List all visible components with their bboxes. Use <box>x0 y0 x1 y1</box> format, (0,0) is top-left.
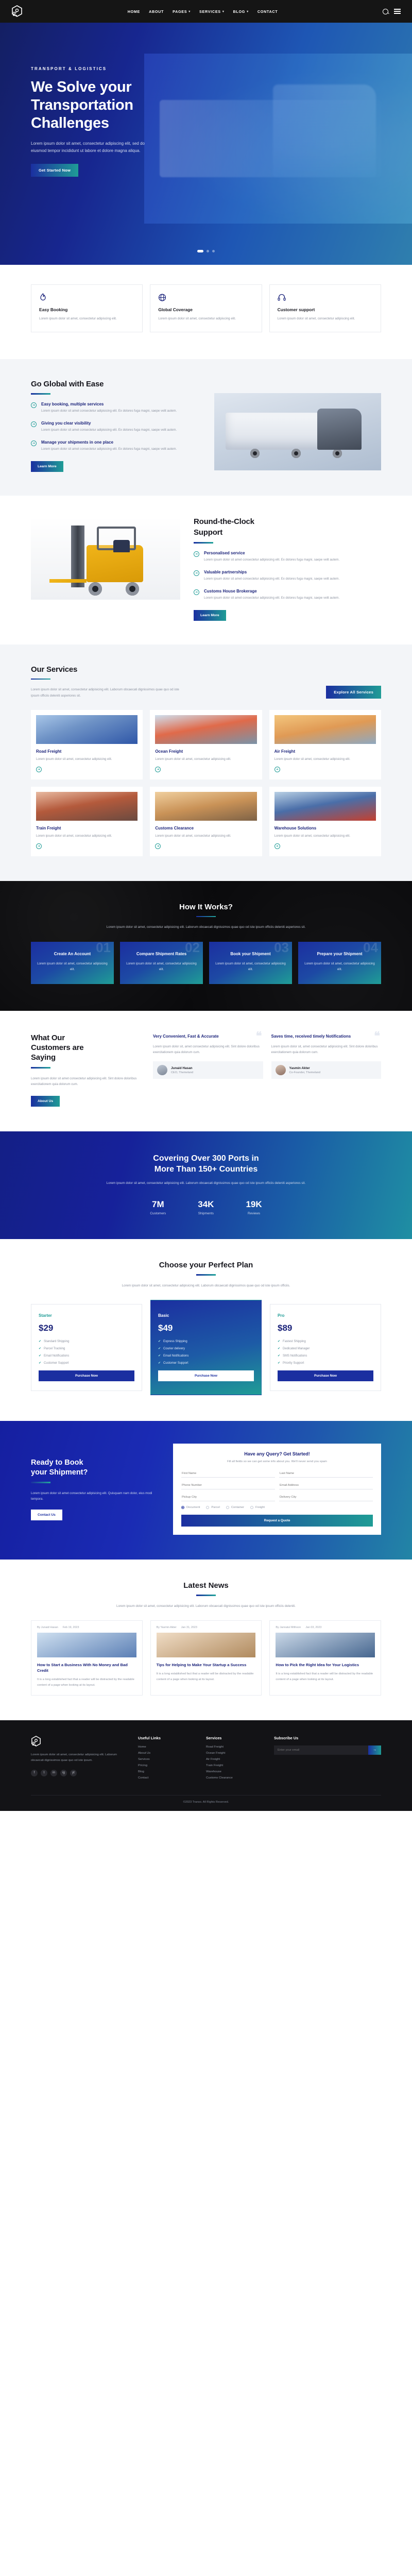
title-rule <box>196 1595 216 1596</box>
subscribe-email-input[interactable] <box>274 1745 368 1755</box>
hamburger-icon[interactable] <box>394 9 401 13</box>
bullet-item: ➔ Customs House Brokerage Lorem ipsum do… <box>194 589 381 601</box>
plan-feature: ✔Customer Support <box>39 1361 134 1365</box>
search-icon[interactable] <box>383 9 388 14</box>
plan-features: ✔Express Shipping ✔Courier delivery ✔Ema… <box>158 1340 254 1365</box>
footer-link[interactable]: Home <box>138 1745 196 1749</box>
pricing-desc: Lorem ipsum dolor sit amet, consectetur … <box>103 1283 309 1289</box>
pricing-plan-pro[interactable]: Pro $89 ✔Fastest Shipping ✔Dedicated Man… <box>270 1304 381 1391</box>
plan-feature: ✔Courier delivery <box>158 1347 254 1350</box>
service-card-customs-clearance[interactable]: Customs Clearance Lorem ipsum dolor sit … <box>150 787 262 856</box>
check-icon: ✔ <box>158 1354 161 1358</box>
news-card-3[interactable]: By Jannatul Mithoon Jan 03, 2023 How to … <box>269 1620 381 1696</box>
step-title: Book your Shipment <box>215 951 286 957</box>
first-name-input[interactable] <box>181 1470 275 1478</box>
hero-carousel-dots <box>0 250 412 252</box>
radio-dot <box>250 1506 253 1509</box>
go-global-text: Go Global with Ease ➔ Easy booking, mult… <box>31 380 201 471</box>
plan-feature: ✔Priority Support <box>278 1361 373 1365</box>
nav-item-contact[interactable]: CONTACT <box>257 9 278 14</box>
radio-parcel[interactable]: Parcel <box>206 1506 219 1509</box>
hero-section: TRANSPORT & LOGISTICS We Solve your Tran… <box>0 23 412 265</box>
forklift-wheel <box>126 582 139 596</box>
feature-card-global-coverage[interactable]: Global Coverage Lorem ipsum dolor sit am… <box>150 284 262 332</box>
quote-form-subtitle: Fill all fields so we can get some info … <box>181 1459 373 1464</box>
destination-input[interactable] <box>279 1494 373 1501</box>
section-title: What Our <box>31 1033 142 1043</box>
how-step-4[interactable]: 04 Prepare your Shipment Lorem ipsum dol… <box>298 942 381 984</box>
plan-price: $29 <box>39 1323 134 1333</box>
stats-section: Covering Over 300 Ports in More Than 150… <box>0 1131 412 1239</box>
stats-desc: Lorem ipsum dolor sit amet, consectetur … <box>93 1180 319 1186</box>
service-card-warehouse-solutions[interactable]: Warehouse Solutions Lorem ipsum dolor si… <box>269 787 381 856</box>
testimonials-desc: Lorem ipsum dolor sit amet consectetur a… <box>31 1076 142 1088</box>
hero-eyebrow: TRANSPORT & LOGISTICS <box>31 66 206 71</box>
testimonial-card-2: ❝ Saves time, received timely Notificati… <box>271 1033 382 1079</box>
stats-title: Covering Over 300 Ports in More Than 150… <box>31 1153 381 1175</box>
service-desc: Lorem ipsum dolor sit amet, consectetur … <box>155 834 256 839</box>
arrow-circle-icon: ➔ <box>31 421 37 427</box>
check-icon: ✔ <box>39 1354 41 1358</box>
section-title-line2: Customers are <box>31 1043 142 1053</box>
title-rule <box>31 1482 50 1483</box>
go-global-truck-image <box>214 393 381 470</box>
bullet-title: Giving you clear visibility <box>41 421 177 426</box>
carousel-dot[interactable] <box>197 250 203 252</box>
bullet-title: Customs House Brokerage <box>204 589 339 594</box>
latest-news-section: Latest News Lorem ipsum dolor sit amet, … <box>0 1560 412 1720</box>
title-rule <box>31 1067 50 1069</box>
round-the-clock-text: Round-the-Clock Support ➔ Personalised s… <box>194 517 381 621</box>
arrow-circle-icon[interactable]: ➔ <box>274 767 280 772</box>
radio-document[interactable]: Document <box>181 1506 200 1509</box>
services-desc: Lorem ipsum dolor sit amet, consectetur … <box>31 687 185 699</box>
service-title: Ocean Freight <box>155 749 256 754</box>
footer-link[interactable]: Warehouse <box>206 1770 264 1773</box>
plan-features: ✔Standard Shipping ✔Parcel Tracking ✔Ema… <box>39 1340 134 1365</box>
flame-icon <box>39 293 134 302</box>
hero-cta-button[interactable]: Get Started Now <box>31 164 78 177</box>
footer-link[interactable]: About Us <box>138 1752 196 1755</box>
carousel-dot[interactable] <box>207 250 209 252</box>
footer-link[interactable]: Contact <box>138 1776 196 1780</box>
facebook-icon[interactable]: f <box>31 1770 38 1776</box>
service-desc: Lorem ipsum dolor sit amet, consectetur … <box>155 757 256 762</box>
footer-link[interactable]: Ocean Freight <box>206 1752 264 1755</box>
youtube-icon[interactable]: yt <box>70 1770 77 1776</box>
news-title: Latest News <box>31 1581 381 1590</box>
hero-content: TRANSPORT & LOGISTICS We Solve your Tran… <box>0 23 206 177</box>
cargo-logo-icon[interactable] <box>11 5 23 18</box>
news-headline: How to Pick the Right Idea for Your Logi… <box>276 1662 375 1668</box>
news-thumbnail <box>276 1633 375 1657</box>
request-quote-button[interactable]: Request a Quote <box>181 1515 373 1527</box>
about-us-button[interactable]: About Us <box>31 1096 60 1107</box>
check-icon: ✔ <box>278 1347 280 1350</box>
book-left-text: Ready to Book your Shipment? Lorem ipsum… <box>31 1458 160 1521</box>
nav-item-services[interactable]: SERVICES▾ <box>199 9 225 14</box>
news-date: Feb 19, 2023 <box>63 1626 79 1629</box>
footer-link[interactable]: Blog <box>138 1770 196 1773</box>
quote-form-title: Have any Query? Get Started! <box>181 1451 373 1456</box>
truck-wheel <box>333 449 342 458</box>
service-title: Warehouse Solutions <box>274 826 376 831</box>
round-the-clock-section: Round-the-Clock Support ➔ Personalised s… <box>0 496 412 645</box>
step-desc: Lorem ipsum dolor sit amet, consectetur … <box>126 961 197 973</box>
clock-cta-button[interactable]: Learn More <box>194 610 226 621</box>
service-card-road-freight[interactable]: Road Freight Lorem ipsum dolor sit amet,… <box>31 710 143 779</box>
copyright-text: ©2023 Transo. All Rights Reserved. <box>183 1801 229 1804</box>
bullet-item: ➔ Giving you clear visibility Lorem ipsu… <box>31 421 201 433</box>
check-icon: ✔ <box>158 1361 161 1365</box>
bullet-title: Easy booking, multiple services <box>41 402 177 406</box>
explore-all-services-button[interactable]: Explore All Services <box>326 686 381 699</box>
plan-feature: ✔Fastest Shipping <box>278 1340 373 1343</box>
stat-customers: 7M Customers <box>150 1199 166 1215</box>
main-nav: HOME ABOUT PAGES▾ SERVICES▾ BLOG▾ CONTAC… <box>23 9 383 14</box>
bullet-title: Manage your shipments in one place <box>41 440 177 445</box>
footer-subscribe: Subscribe Us → <box>274 1736 381 1783</box>
arrow-circle-icon: ➔ <box>31 440 37 446</box>
how-step-3[interactable]: 03 Book your Shipment Lorem ipsum dolor … <box>209 942 292 984</box>
bullet-title: Personalised service <box>204 551 339 555</box>
nav-label: CONTACT <box>257 9 278 14</box>
author-role: Co-Founder, Themeland <box>289 1071 321 1074</box>
arrow-circle-icon: ➔ <box>31 402 37 408</box>
train-photo <box>36 792 138 821</box>
testimonial-text: Lorem ipsum dolor sit, amet consectetur … <box>271 1044 382 1056</box>
service-card-train-freight[interactable]: Train Freight Lorem ipsum dolor sit amet… <box>31 787 143 856</box>
pricing-plan-starter[interactable]: Starter $29 ✔Standard Shipping ✔Parcel T… <box>31 1304 142 1391</box>
stat-value: 34K <box>198 1199 214 1210</box>
arrow-circle-icon[interactable]: ➔ <box>274 843 280 849</box>
news-author: By Junaid Hasan <box>37 1626 58 1629</box>
title-rule <box>196 916 216 918</box>
testimonial-card-1: ❝ Very Convenient, Fast & Accurate Lorem… <box>153 1033 263 1079</box>
how-step-2[interactable]: 02 Compare Shipment Rates Lorem ipsum do… <box>120 942 203 984</box>
forklift-fork <box>49 579 87 583</box>
radio-freight[interactable]: Freight <box>250 1506 265 1509</box>
service-card-air-freight[interactable]: Air Freight Lorem ipsum dolor sit amet, … <box>269 710 381 779</box>
section-title: Our Services <box>31 665 185 674</box>
news-date: Jan 31, 2023 <box>181 1626 197 1629</box>
how-step-1[interactable]: 01 Create An Account Lorem ipsum dolor s… <box>31 942 114 984</box>
step-title: Create An Account <box>37 951 108 957</box>
phone-input[interactable] <box>181 1482 275 1489</box>
purchase-button[interactable]: Purchase Now <box>278 1370 373 1381</box>
subscribe-button[interactable]: → <box>368 1745 381 1755</box>
last-name-input[interactable] <box>279 1470 373 1478</box>
plan-feature: ✔Express Shipping <box>158 1340 254 1343</box>
news-author: By Jannatul Mithoon <box>276 1626 301 1629</box>
bullet-item: ➔ Personalised service Lorem ipsum dolor… <box>194 551 381 563</box>
nav-label: HOME <box>128 9 140 14</box>
service-desc: Lorem ipsum dolor sit amet, consectetur … <box>36 834 138 839</box>
feature-desc: Lorem ipsum dolor sit amet, consectetur … <box>278 316 373 321</box>
arrow-circle-icon: ➔ <box>194 589 199 595</box>
bullet-item: ➔ Valuable partnerships Lorem ipsum dolo… <box>194 570 381 582</box>
service-desc: Lorem ipsum dolor sit amet, consectetur … <box>274 757 376 762</box>
ship-photo <box>155 715 256 744</box>
bullet-desc: Lorem ipsum dolor sit amet consectetur a… <box>204 577 339 582</box>
bullet-item: ➔ Easy booking, multiple services Lorem … <box>31 402 201 414</box>
book-title-line: your Shipment? <box>31 1468 160 1478</box>
footer-link[interactable]: Air Freight <box>206 1758 264 1761</box>
footer-column-title: Services <box>206 1736 264 1740</box>
service-title: Air Freight <box>274 749 376 754</box>
footer-desc: Lorem ipsum dolor sit amet, consectetur … <box>31 1752 128 1764</box>
radio-dot <box>206 1506 209 1509</box>
news-author: By Yasmin Akter <box>157 1626 177 1629</box>
bullet-desc: Lorem ipsum dolor sit amet consectetur a… <box>41 447 177 452</box>
footer-link[interactable]: Pricing <box>138 1764 196 1767</box>
hero-title-line: Challenges <box>31 114 206 132</box>
news-excerpt: It is a long established fact that a rea… <box>37 1677 136 1688</box>
plan-price: $89 <box>278 1323 373 1333</box>
radio-dot <box>181 1506 184 1509</box>
bullet-title: Valuable partnerships <box>204 570 339 574</box>
footer-column-title: Useful Links <box>138 1736 196 1740</box>
step-desc: Lorem ipsum dolor sit amet, consectetur … <box>304 961 375 973</box>
feature-desc: Lorem ipsum dolor sit amet, consectetur … <box>158 316 253 321</box>
check-icon: ✔ <box>158 1347 161 1350</box>
service-card-ocean-freight[interactable]: Ocean Freight Lorem ipsum dolor sit amet… <box>150 710 262 779</box>
warehouse-photo <box>274 792 376 821</box>
book-desc: Lorem ipsum dolor sit amet consectetur a… <box>31 1490 160 1502</box>
service-desc: Lorem ipsum dolor sit amet, consectetur … <box>36 757 138 762</box>
news-date: Jan 03, 2023 <box>305 1626 321 1629</box>
arrow-circle-icon: ➔ <box>194 570 199 576</box>
author-name: Junaid Hasan <box>171 1066 193 1070</box>
check-icon: ✔ <box>39 1340 41 1343</box>
twitter-icon[interactable]: t <box>41 1770 47 1776</box>
arrow-circle-icon: ➔ <box>194 551 199 557</box>
stats-title-line: Covering Over 300 Ports in <box>31 1153 381 1164</box>
arrow-circle-icon[interactable]: ➔ <box>155 843 161 849</box>
site-header: HOME ABOUT PAGES▾ SERVICES▾ BLOG▾ CONTAC… <box>0 0 412 23</box>
how-desc: Lorem ipsum dolor sit amet, consectetur … <box>98 924 314 930</box>
nav-label: SERVICES <box>199 9 221 14</box>
news-thumbnail <box>37 1633 136 1657</box>
check-icon: ✔ <box>278 1361 280 1365</box>
plan-name: Pro <box>278 1313 373 1318</box>
book-title: Ready to Book your Shipment? <box>31 1458 160 1478</box>
globe-icon <box>158 293 253 302</box>
section-title: Round-the-Clock <box>194 517 381 527</box>
nav-item-pages[interactable]: PAGES▾ <box>173 9 191 14</box>
testimonial-author: Yasmin Akter Co-Founder, Themeland <box>271 1061 382 1079</box>
services-section: Our Services Lorem ipsum dolor sit amet,… <box>0 645 412 881</box>
arrow-circle-icon[interactable]: ➔ <box>36 767 42 772</box>
contact-us-button[interactable]: Contact Us <box>31 1510 62 1520</box>
check-icon: ✔ <box>278 1354 280 1358</box>
chevron-down-icon: ▾ <box>247 10 249 13</box>
avatar <box>276 1065 286 1075</box>
stats-title-line: More Than 150+ Countries <box>31 1164 381 1175</box>
news-thumbnail <box>157 1633 256 1657</box>
truck-wheel <box>250 449 260 458</box>
author-name: Yasmin Akter <box>289 1066 321 1070</box>
feature-card-easy-booking[interactable]: Easy Booking Lorem ipsum dolor sit amet,… <box>31 284 143 332</box>
nav-item-about[interactable]: ABOUT <box>149 9 164 14</box>
section-title: Go Global with Ease <box>31 380 201 388</box>
step-title: Compare Shipment Rates <box>126 951 197 957</box>
go-global-cta-button[interactable]: Learn More <box>31 461 63 472</box>
footer-column-services: Services Road Freight Ocean Freight Air … <box>206 1736 264 1783</box>
title-rule <box>196 1274 216 1276</box>
site-footer: Lorem ipsum dolor sit amet, consectetur … <box>0 1720 412 1811</box>
title-rule <box>31 393 50 395</box>
footer-bottom: ©2023 Transo. All Rights Reserved. <box>31 1795 381 1811</box>
testimonials-section: What Our Customers are Saying Lorem ipsu… <box>0 1011 412 1131</box>
social-links: f t in ig yt <box>31 1770 128 1776</box>
feature-desc: Lorem ipsum dolor sit amet, consectetur … <box>39 316 134 321</box>
avatar <box>157 1065 167 1075</box>
carousel-dot[interactable] <box>212 250 215 252</box>
purchase-button[interactable]: Purchase Now <box>158 1370 254 1381</box>
step-desc: Lorem ipsum dolor sit amet, consectetur … <box>37 961 108 973</box>
plan-feature: ✔Customer Support <box>158 1361 254 1365</box>
origin-input[interactable] <box>181 1494 275 1501</box>
testimonial-title: Very Convenient, Fast & Accurate <box>153 1033 263 1040</box>
stat-shipments: 34K Shipments <box>198 1199 214 1215</box>
instagram-icon[interactable]: ig <box>60 1770 67 1776</box>
title-rule <box>194 542 213 544</box>
service-title: Customs Clearance <box>155 826 256 831</box>
truck-wheel <box>291 449 301 458</box>
header-actions <box>383 9 401 14</box>
truck-photo <box>36 715 138 744</box>
hero-title-line: We Solve your <box>31 78 206 96</box>
stat-value: 19K <box>246 1199 262 1210</box>
arrow-circle-icon[interactable]: ➔ <box>36 843 42 849</box>
forklift-image <box>31 517 180 600</box>
forklift-wheel <box>89 582 102 596</box>
nav-item-blog[interactable]: BLOG▾ <box>233 9 249 14</box>
footer-link[interactable]: Road Freight <box>206 1745 264 1749</box>
plan-feature: ✔Standard Shipping <box>39 1340 134 1343</box>
how-it-works-section: How It Works? Lorem ipsum dolor sit amet… <box>0 881 412 1011</box>
title-rule <box>31 679 50 680</box>
email-input[interactable] <box>279 1482 373 1489</box>
bullet-desc: Lorem ipsum dolor sit amet consectetur a… <box>41 428 177 433</box>
stat-reviews: 19K Reviews <box>246 1199 262 1215</box>
nav-item-home[interactable]: HOME <box>128 9 140 14</box>
services-heading: Our Services Lorem ipsum dolor sit amet,… <box>31 665 185 699</box>
news-headline: How to Start a Business With No Money an… <box>37 1662 136 1673</box>
bullet-desc: Lorem ipsum dolor sit amet consectetur a… <box>204 596 339 601</box>
arrow-circle-icon[interactable]: ➔ <box>155 767 161 772</box>
stat-value: 7M <box>150 1199 166 1210</box>
bullet-desc: Lorem ipsum dolor sit amet consectetur a… <box>41 409 177 414</box>
pricing-plan-basic[interactable]: Basic $49 ✔Express Shipping ✔Courier del… <box>150 1300 262 1395</box>
plane-photo <box>274 715 376 744</box>
book-title-line: Ready to Book <box>31 1458 160 1468</box>
plan-name: Starter <box>39 1313 134 1318</box>
plan-price: $49 <box>158 1323 254 1333</box>
pricing-section: Choose your Perfect Plan Lorem ipsum dol… <box>0 1239 412 1421</box>
forklift-mast <box>71 526 84 587</box>
features-section: Easy Booking Lorem ipsum dolor sit amet,… <box>0 265 412 359</box>
step-desc: Lorem ipsum dolor sit amet, consectetur … <box>215 961 286 973</box>
hero-description: Lorem ipsum dolor sit amet, consectetur … <box>31 140 157 155</box>
bullet-desc: Lorem ipsum dolor sit amet consectetur a… <box>204 557 339 563</box>
plan-feature: ✔Parcel Tracking <box>39 1347 134 1350</box>
nav-label: PAGES <box>173 9 187 14</box>
pricing-title: Choose your Perfect Plan <box>31 1261 381 1269</box>
testimonial-title: Saves time, received timely Notification… <box>271 1033 382 1040</box>
testimonial-text: Lorem ipsum dolor sit, amet consectetur … <box>153 1044 263 1056</box>
footer-link[interactable]: Train Freight <box>206 1764 264 1767</box>
stat-label: Reviews <box>246 1212 262 1215</box>
hero-title: We Solve your Transportation Challenges <box>31 78 206 132</box>
chevron-down-icon: ▾ <box>222 10 225 13</box>
nav-label: ABOUT <box>149 9 164 14</box>
news-card-2[interactable]: By Yasmin Akter Jan 31, 2023 Tips for He… <box>150 1620 262 1696</box>
quote-form: Have any Query? Get Started! Fill all fi… <box>173 1444 381 1535</box>
service-title: Road Freight <box>36 749 138 754</box>
feature-card-customer-support[interactable]: Customer support Lorem ipsum dolor sit a… <box>269 284 381 332</box>
headset-icon <box>278 293 373 302</box>
footer-column-useful-links: Useful Links Home About Us Services Pric… <box>138 1736 196 1783</box>
go-global-section: Go Global with Ease ➔ Easy booking, mult… <box>0 359 412 495</box>
subscribe-title: Subscribe Us <box>274 1736 381 1740</box>
radio-dot <box>226 1506 229 1509</box>
linkedin-icon[interactable]: in <box>50 1770 57 1776</box>
plan-feature: ✔Email Notifications <box>39 1354 134 1358</box>
news-desc: Lorem ipsum dolor sit amet, consectetur … <box>98 1603 314 1609</box>
news-card-1[interactable]: By Junaid Hasan Feb 19, 2023 How to Star… <box>31 1620 143 1696</box>
bullet-item: ➔ Manage your shipments in one place Lor… <box>31 440 201 452</box>
testimonial-author: Junaid Hasan CEO, Themeland <box>153 1061 263 1079</box>
section-title-line3: Saying <box>31 1053 142 1063</box>
check-icon: ✔ <box>158 1340 161 1343</box>
feature-title: Customer support <box>278 307 373 312</box>
feature-title: Easy Booking <box>39 307 134 312</box>
stat-label: Customers <box>150 1212 166 1215</box>
plan-features: ✔Fastest Shipping ✔Dedicated Manager ✔SM… <box>278 1340 373 1365</box>
how-title: How It Works? <box>31 903 381 911</box>
forklift-seat <box>113 540 130 552</box>
purchase-button[interactable]: Purchase Now <box>39 1370 134 1381</box>
service-title: Train Freight <box>36 826 138 831</box>
chevron-down-icon: ▾ <box>188 10 191 13</box>
plan-name: Basic <box>158 1313 254 1318</box>
footer-logo[interactable] <box>31 1736 128 1747</box>
footer-link[interactable]: Services <box>138 1758 196 1761</box>
service-desc: Lorem ipsum dolor sit amet, consectetur … <box>274 834 376 839</box>
plan-feature: ✔Email Notifications <box>158 1354 254 1358</box>
footer-brand: Lorem ipsum dolor sit amet, consectetur … <box>31 1736 128 1783</box>
hero-title-line: Transportation <box>31 96 206 114</box>
footer-link[interactable]: Customs Clearance <box>206 1776 264 1780</box>
news-excerpt: It is a long established fact that a rea… <box>157 1671 256 1682</box>
plan-feature: ✔SMS Notifications <box>278 1354 373 1358</box>
nav-label: BLOG <box>233 9 246 14</box>
section-title-line2: Support <box>194 528 381 537</box>
check-icon: ✔ <box>39 1347 41 1350</box>
page-root: HOME ABOUT PAGES▾ SERVICES▾ BLOG▾ CONTAC… <box>0 0 412 1811</box>
feature-title: Global Coverage <box>158 307 253 312</box>
book-shipment-section: Ready to Book your Shipment? Lorem ipsum… <box>0 1421 412 1560</box>
news-excerpt: It is a long established fact that a rea… <box>276 1671 375 1682</box>
shipment-type-radios: Document Parcel Container Freight <box>181 1506 373 1509</box>
radio-container[interactable]: Container <box>226 1506 244 1509</box>
check-icon: ✔ <box>278 1340 280 1343</box>
plan-feature: ✔Dedicated Manager <box>278 1347 373 1350</box>
check-icon: ✔ <box>39 1361 41 1365</box>
stat-label: Shipments <box>198 1212 214 1215</box>
